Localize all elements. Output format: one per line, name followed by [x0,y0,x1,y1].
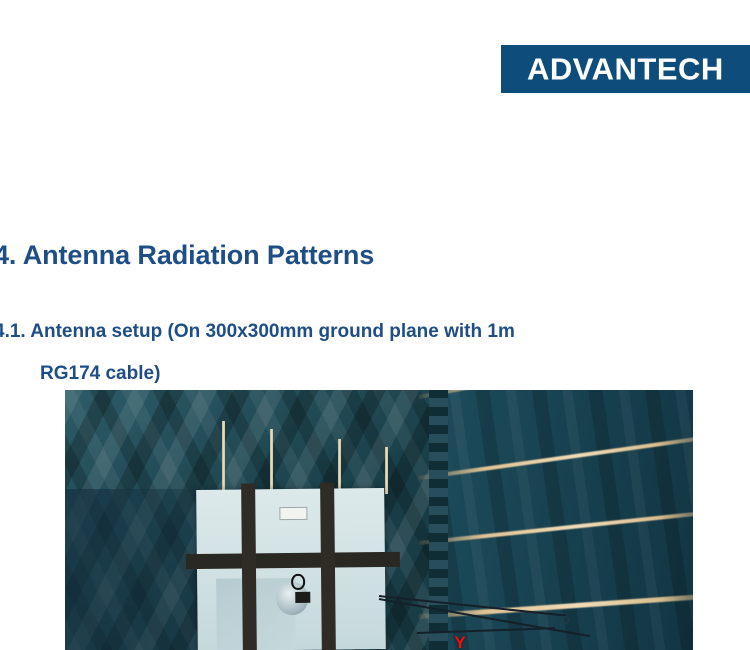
monopole-rod [222,421,225,494]
subsection-heading-line-1: 4.1. Antenna setup (On 300x300mm ground … [0,311,750,353]
coax-connector [295,592,310,603]
device-label-sticker [279,506,307,520]
ground-plane-tape-horizontal [185,552,400,569]
ground-plane-panel [196,488,386,650]
subsection-heading-line-2: RG174 cable) [0,353,750,395]
subsection-heading: 4.1. Antenna setup (On 300x300mm ground … [0,311,750,395]
monopole-rod [385,447,388,494]
anechoic-side-wall [429,390,693,650]
page-title: 4. Antenna Radiation Patterns [0,240,374,271]
antenna-setup-photo: Y [65,390,693,650]
photo-canvas: Y [65,390,693,650]
monopole-rod [270,429,273,494]
antenna-loop-element [291,574,305,589]
y-axis-marker-label: Y [454,634,465,650]
monopole-rod [338,439,341,494]
advantech-logo-banner: ADVANTECH [501,45,750,93]
ground-plane-tape-vertical [320,482,336,650]
ground-plane-tape-vertical [241,483,257,650]
advantech-wordmark: ADVANTECH [527,54,724,85]
